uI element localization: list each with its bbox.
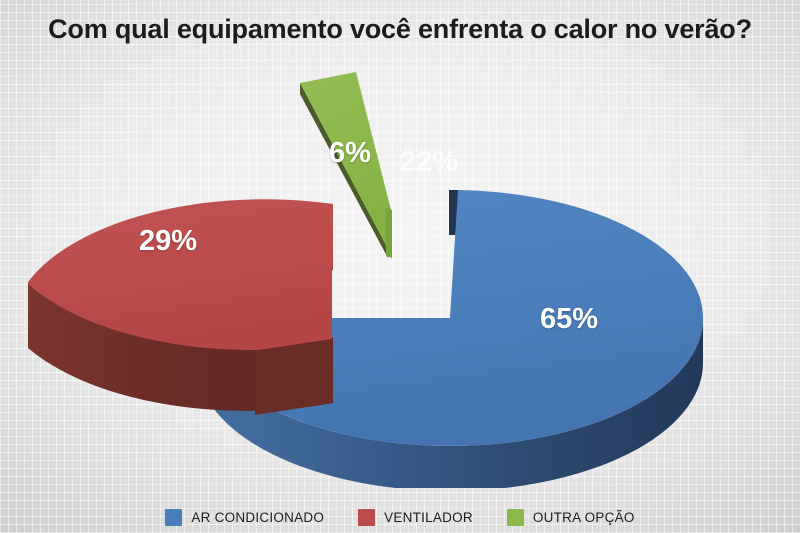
data-label-ar-condicionado: 65% <box>540 303 598 336</box>
legend-label-outra-opcao: OUTRA OPÇÃO <box>533 510 635 525</box>
pie-plot-area: 22% 65% 29% 6% <box>0 58 800 488</box>
pie-graphic <box>0 58 800 488</box>
data-label-ventilador: 29% <box>139 225 197 258</box>
chart-legend: AR CONDICIONADO VENTILADOR OUTRA OPÇÃO <box>0 509 800 526</box>
legend-item-ar-condicionado[interactable]: AR CONDICIONADO <box>165 509 324 526</box>
legend-item-ventilador[interactable]: VENTILADOR <box>358 509 473 526</box>
data-label-outra-opcao: 6% <box>329 137 371 170</box>
chart-title: Com qual equipamento você enfrenta o cal… <box>0 14 800 45</box>
ghost-data-label-22: 22% <box>400 146 458 179</box>
legend-swatch-icon-ar-condicionado <box>165 509 182 526</box>
legend-label-ar-condicionado: AR CONDICIONADO <box>191 510 324 525</box>
legend-swatch-icon-ventilador <box>358 509 375 526</box>
legend-swatch-icon-outra-opcao <box>507 509 524 526</box>
legend-label-ventilador: VENTILADOR <box>384 510 473 525</box>
pie-chart-figure: Com qual equipamento você enfrenta o cal… <box>0 0 800 533</box>
legend-item-outra-opcao[interactable]: OUTRA OPÇÃO <box>507 509 635 526</box>
